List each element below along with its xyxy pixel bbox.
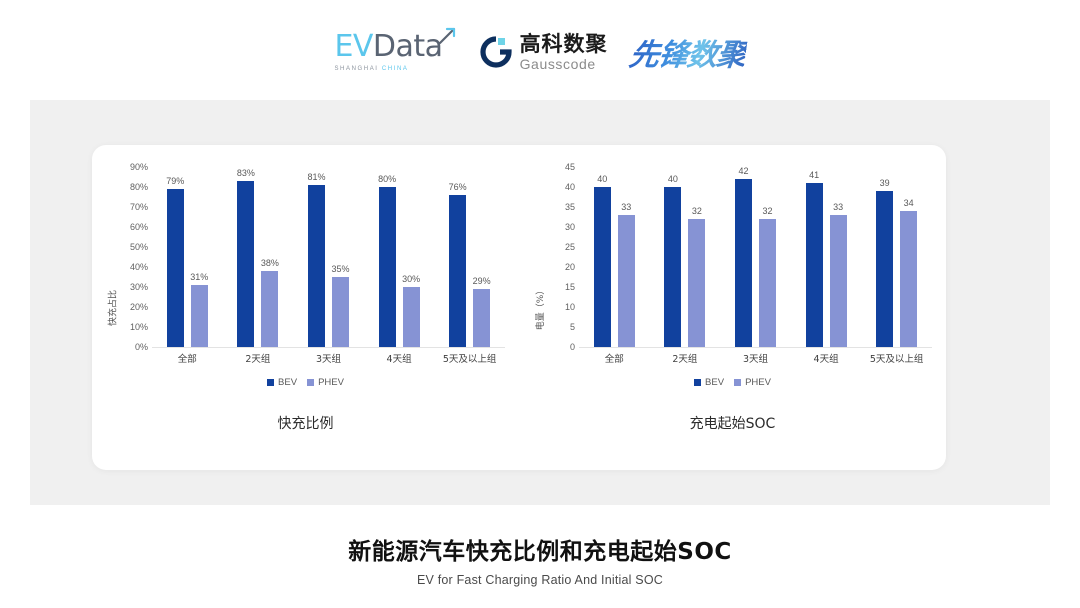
- y-axis-tick: 10%: [130, 322, 148, 332]
- bar-value-label: 34: [904, 198, 914, 208]
- bar-rect: [876, 191, 893, 347]
- bar-bev: 81%: [308, 167, 325, 347]
- evdata-ev-text: EV: [334, 29, 372, 64]
- legend-label-bev: BEV: [278, 377, 297, 388]
- legend-swatch-phev: [307, 379, 314, 386]
- evdata-tagline: SHANGHAI CHINA: [334, 66, 408, 72]
- bar-value-label: 79%: [166, 176, 184, 186]
- x-axis-tick-label: 全部: [579, 351, 650, 365]
- bar-value-label: 83%: [237, 168, 255, 178]
- bar-value-label: 35%: [331, 264, 349, 274]
- bar-rect: [449, 195, 466, 347]
- bar-phev: 34: [900, 167, 917, 347]
- bar-phev: 32: [759, 167, 776, 347]
- bar-bev: 79%: [167, 167, 184, 347]
- y-axis-ticks: 051015202530354045: [541, 167, 575, 347]
- y-axis-tick: 20%: [130, 302, 148, 312]
- x-axis-tick-label: 2天组: [223, 351, 294, 365]
- y-axis-tick: 20: [565, 262, 575, 272]
- gausscode-english-name: Gausscode: [520, 57, 608, 71]
- y-axis-tick: 60%: [130, 222, 148, 232]
- bar-rect: [594, 187, 611, 347]
- y-axis-tick: 5: [570, 322, 575, 332]
- chart-initial-soc: 电量（%） 051015202530354045 403340324232413…: [519, 145, 946, 470]
- bar-value-label: 38%: [261, 258, 279, 268]
- bar-value-label: 40: [668, 174, 678, 184]
- legend-swatch-phev: [734, 379, 741, 386]
- legend-item-bev: BEV: [694, 377, 724, 388]
- bar-rect: [379, 187, 396, 347]
- bar-value-label: 32: [692, 206, 702, 216]
- legend-swatch-bev: [267, 379, 274, 386]
- bar-rect: [237, 181, 254, 347]
- bar-bev: 76%: [449, 167, 466, 347]
- bar-value-label: 32: [762, 206, 772, 216]
- x-axis-labels: 全部2天组3天组4天组5天及以上组: [152, 351, 505, 365]
- y-axis-tick: 30%: [130, 282, 148, 292]
- legend-item-bev: BEV: [267, 377, 297, 388]
- bar-phev: 32: [688, 167, 705, 347]
- logo-bar: EVData SHANGHAI CHINA 高科数聚 Gausscode 先锋数…: [0, 24, 1080, 80]
- bar-value-label: 31%: [190, 272, 208, 282]
- y-axis-tick: 40: [565, 182, 575, 192]
- bar-rect: [332, 277, 349, 347]
- bar-bev: 41: [806, 167, 823, 347]
- bar-rect: [688, 219, 705, 347]
- y-axis-tick: 25: [565, 242, 575, 252]
- bar-value-label: 33: [833, 202, 843, 212]
- evdata-tagline-country: CHINA: [382, 66, 409, 72]
- bar-rect: [664, 187, 681, 347]
- bar-group: 4232: [720, 167, 791, 347]
- evdata-logo: EVData SHANGHAI CHINA: [334, 32, 456, 72]
- bar-value-label: 29%: [473, 276, 491, 286]
- bar-value-label: 80%: [378, 174, 396, 184]
- bar-rect: [261, 271, 278, 347]
- bar-phev: 33: [618, 167, 635, 347]
- y-axis-tick: 30: [565, 222, 575, 232]
- chart-legend: BEV PHEV: [92, 377, 519, 388]
- bar-value-label: 41: [809, 170, 819, 180]
- charts-row: 快充占比 0%10%20%30%40%50%60%70%80%90% 79%31…: [92, 145, 946, 470]
- x-axis-tick-label: 5天及以上组: [434, 351, 505, 365]
- y-axis-tick: 35: [565, 202, 575, 212]
- legend-item-phev: PHEV: [734, 377, 771, 388]
- bar-group: 4133: [791, 167, 862, 347]
- bar-group: 83%38%: [223, 167, 294, 347]
- legend-label-bev: BEV: [705, 377, 724, 388]
- x-axis-tick-label: 全部: [152, 351, 223, 365]
- plot-area: 40334032423241333934: [579, 167, 932, 348]
- y-axis-tick: 70%: [130, 202, 148, 212]
- bar-rect: [806, 183, 823, 347]
- bar-rect: [759, 219, 776, 347]
- legend-swatch-bev: [694, 379, 701, 386]
- bar-rect: [735, 179, 752, 347]
- page-subtitle: EV for Fast Charging Ratio And Initial S…: [0, 573, 1080, 587]
- bar-group: 3934: [861, 167, 932, 347]
- bar-rect: [473, 289, 490, 347]
- bar-bev: 83%: [237, 167, 254, 347]
- bar-value-label: 30%: [402, 274, 420, 284]
- gausscode-text: 高科数聚 Gausscode: [520, 34, 608, 71]
- y-axis-tick: 40%: [130, 262, 148, 272]
- bar-bev: 42: [735, 167, 752, 347]
- y-axis-ticks: 0%10%20%30%40%50%60%70%80%90%: [114, 167, 148, 347]
- chart-caption: 充电起始SOC: [519, 413, 946, 433]
- plot-area: 79%31%83%38%81%35%80%30%76%29%: [152, 167, 505, 348]
- bar-bev: 40: [594, 167, 611, 347]
- footer: 新能源汽车快充比例和充电起始SOC EV for Fast Charging R…: [0, 532, 1080, 587]
- bar-group: 79%31%: [152, 167, 223, 347]
- bar-group: 76%29%: [434, 167, 505, 347]
- x-axis-tick-label: 3天组: [720, 351, 791, 365]
- bar-value-label: 42: [738, 166, 748, 176]
- charts-card: 快充占比 0%10%20%30%40%50%60%70%80%90% 79%31…: [92, 145, 946, 470]
- bar-rect: [308, 185, 325, 347]
- legend-item-phev: PHEV: [307, 377, 344, 388]
- gausscode-chinese-name: 高科数聚: [520, 34, 608, 55]
- legend-label-phev: PHEV: [745, 377, 771, 388]
- gausscode-mark-icon: [479, 35, 513, 69]
- gausscode-logo: 高科数聚 Gausscode: [479, 34, 608, 71]
- bar-rect: [830, 215, 847, 347]
- chart-caption: 快充比例: [92, 413, 519, 433]
- legend-label-phev: PHEV: [318, 377, 344, 388]
- x-axis-tick-label: 3天组: [293, 351, 364, 365]
- y-axis-tick: 90%: [130, 162, 148, 172]
- bar-rect: [191, 285, 208, 347]
- bar-rect: [900, 211, 917, 347]
- page-title: 新能源汽车快充比例和充电起始SOC: [0, 532, 1080, 566]
- x-axis-tick-label: 2天组: [650, 351, 721, 365]
- bar-phev: 35%: [332, 167, 349, 347]
- bar-phev: 29%: [473, 167, 490, 347]
- y-axis-tick: 10: [565, 302, 575, 312]
- bar-rect: [403, 287, 420, 347]
- y-axis-tick: 15: [565, 282, 575, 292]
- bar-value-label: 76%: [449, 182, 467, 192]
- bar-value-label: 33: [621, 202, 631, 212]
- bar-bev: 40: [664, 167, 681, 347]
- bar-rect: [167, 189, 184, 347]
- y-axis-tick: 45: [565, 162, 575, 172]
- x-axis-tick-label: 4天组: [364, 351, 435, 365]
- bar-rect: [618, 215, 635, 347]
- bar-value-label: 39: [880, 178, 890, 188]
- evdata-tagline-city: SHANGHAI: [334, 66, 381, 72]
- xianfeng-logo: 先锋数聚: [626, 30, 748, 74]
- evdata-data-text: Data: [373, 29, 443, 64]
- bar-bev: 80%: [379, 167, 396, 347]
- bar-phev: 31%: [191, 167, 208, 347]
- bar-group: 80%30%: [364, 167, 435, 347]
- y-axis-tick: 0: [570, 342, 575, 352]
- bar-value-label: 40: [597, 174, 607, 184]
- y-axis-tick: 0%: [135, 342, 148, 352]
- x-axis-tick-label: 5天及以上组: [861, 351, 932, 365]
- evdata-wordmark: EVData: [334, 32, 442, 62]
- y-axis-tick: 50%: [130, 242, 148, 252]
- chart-fast-charging-ratio: 快充占比 0%10%20%30%40%50%60%70%80%90% 79%31…: [92, 145, 519, 470]
- x-axis-tick-label: 4天组: [791, 351, 862, 365]
- chart-legend: BEV PHEV: [519, 377, 946, 388]
- x-mark-icon: [437, 26, 457, 46]
- x-axis-labels: 全部2天组3天组4天组5天及以上组: [579, 351, 932, 365]
- bar-phev: 33: [830, 167, 847, 347]
- bar-value-label: 81%: [307, 172, 325, 182]
- bar-group: 4032: [650, 167, 721, 347]
- bar-group: 81%35%: [293, 167, 364, 347]
- bar-bev: 39: [876, 167, 893, 347]
- bar-group: 4033: [579, 167, 650, 347]
- y-axis-tick: 80%: [130, 182, 148, 192]
- bar-phev: 30%: [403, 167, 420, 347]
- bar-phev: 38%: [261, 167, 278, 347]
